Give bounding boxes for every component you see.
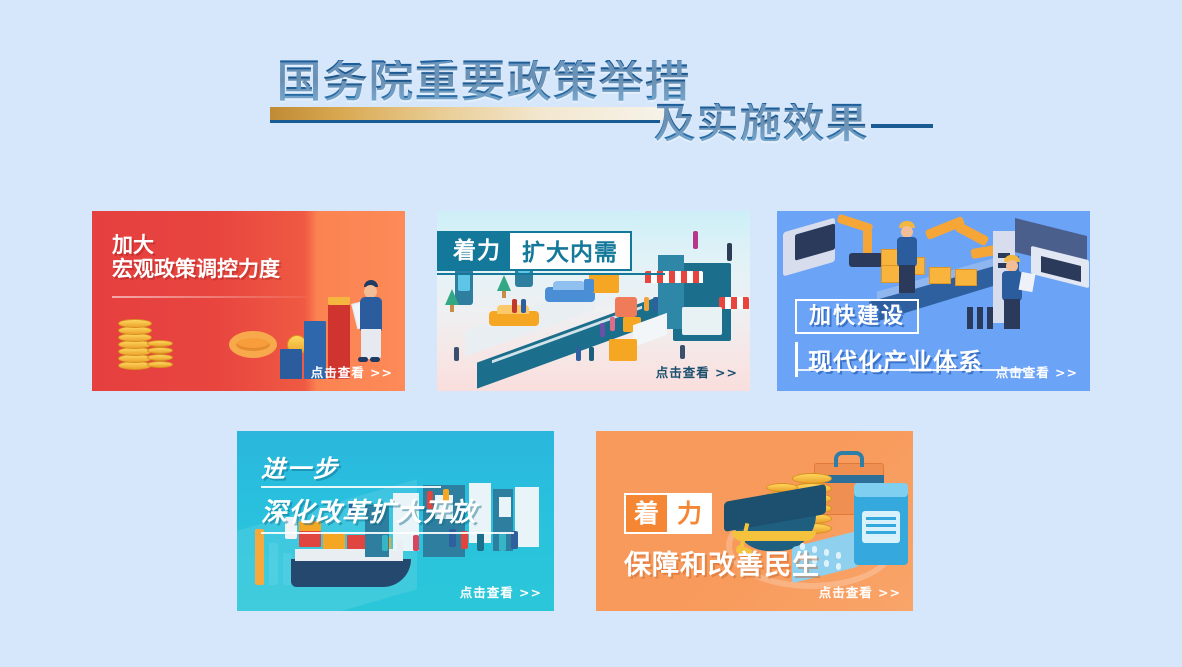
- card4-title-rule-1: [261, 486, 441, 488]
- card2-title: 着力 扩大内需: [437, 231, 632, 271]
- card4-cta-link[interactable]: 点击查看 >>: [460, 582, 542, 601]
- card5-title: 着 力 保障和改善民生: [624, 493, 820, 582]
- card5-cta-link[interactable]: 点击查看 >>: [819, 582, 901, 601]
- card2-cta-link[interactable]: 点击查看 >>: [656, 362, 738, 381]
- policy-card-industrial-system[interactable]: 加快建设 现代化产业体系 点击查看 >>: [777, 211, 1090, 391]
- card4-title-line-1: 进一步: [261, 449, 514, 484]
- card3-title-line-2: 现代化产业体系: [795, 342, 983, 377]
- card5-title-line-2: 保障和改善民生: [624, 543, 820, 582]
- card5-title-part-2: 力: [669, 493, 712, 534]
- card5-title-line-1: 着 力: [624, 493, 820, 534]
- card2-title-rule: [437, 273, 665, 275]
- card1-cta-link[interactable]: 点击查看 >>: [311, 362, 393, 381]
- card4-title: 进一步 深化改革扩大开放: [261, 449, 514, 534]
- card1-title-line-1: 加大: [112, 233, 280, 257]
- card1-title-rule: [112, 296, 307, 298]
- policy-card-livelihood[interactable]: 着 力 保障和改善民生 点击查看 >>: [596, 431, 913, 611]
- card3-title-rule: [795, 369, 1025, 371]
- card1-title: 加大 宏观政策调控力度: [112, 233, 280, 281]
- card1-title-line-2: 宏观政策调控力度: [112, 257, 280, 281]
- policy-card-grid: 加大 宏观政策调控力度 点击查看 >>: [0, 0, 1182, 667]
- policy-card-reform-opening[interactable]: 进一步 深化改革扩大开放 点击查看 >>: [237, 431, 554, 611]
- policy-card-macro-policy[interactable]: 加大 宏观政策调控力度 点击查看 >>: [92, 211, 405, 391]
- card5-title-part-1: 着: [624, 493, 669, 534]
- card4-title-rule-2: [261, 532, 514, 534]
- card3-title: 加快建设 现代化产业体系: [795, 299, 983, 377]
- card3-cta-link[interactable]: 点击查看 >>: [996, 362, 1078, 381]
- card2-title-part-2: 扩大内需: [510, 231, 632, 271]
- card2-title-part-1: 着力: [437, 231, 510, 271]
- card3-title-line-1: 加快建设: [795, 299, 919, 334]
- policy-card-domestic-demand[interactable]: 着力 扩大内需 点击查看 >>: [437, 211, 750, 391]
- card4-title-line-2: 深化改革扩大开放: [261, 492, 514, 529]
